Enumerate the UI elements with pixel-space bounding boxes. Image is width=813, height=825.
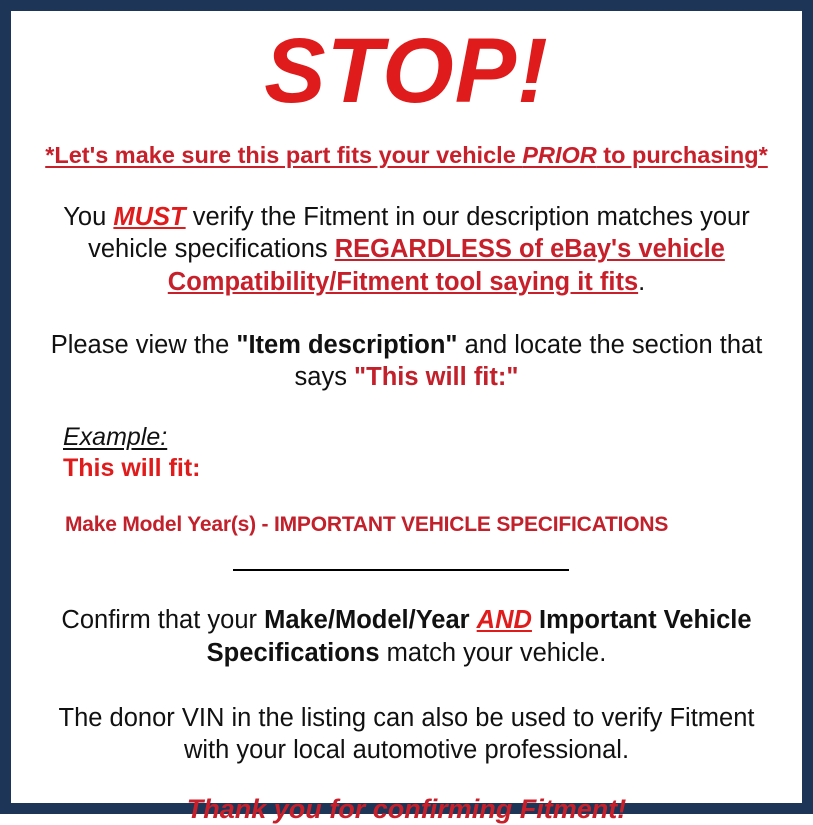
- example-spec-line: Make Model Year(s) - IMPORTANT VEHICLE S…: [65, 513, 780, 537]
- example-label-row: Example:: [63, 424, 780, 452]
- tagline-text-after: to purchasing*: [597, 142, 768, 168]
- make-model-year-bold: Make/Model/Year: [264, 606, 477, 634]
- must-seg-1: You: [63, 203, 113, 231]
- tagline-emphasis-prior: PRIOR: [522, 142, 596, 168]
- item-description-paragraph: Please view the "Item description" and l…: [33, 329, 780, 394]
- thank-you-line: Thank you for confirming Fitment!: [33, 795, 780, 825]
- tagline-banner: *Let's make sure this part fits your veh…: [33, 143, 780, 171]
- this-will-fit-quote: "This will fit:": [354, 363, 518, 391]
- confirm-seg-1: Confirm that your: [61, 606, 264, 634]
- item-description-label: "Item description": [236, 331, 457, 359]
- horizontal-rule-divider: [233, 569, 569, 571]
- confirm-seg-5: match your vehicle.: [380, 639, 607, 667]
- must-seg-5: .: [638, 268, 645, 296]
- example-fit-heading: This will fit:: [63, 454, 780, 483]
- example-label: Example:: [63, 424, 167, 452]
- and-emphasis: AND: [477, 606, 532, 634]
- divider-row: [33, 569, 780, 571]
- must-emphasis: MUST: [113, 203, 185, 231]
- page-title: STOP!: [33, 25, 780, 117]
- confirm-paragraph: Confirm that your Make/Model/Year AND Im…: [33, 604, 780, 669]
- example-block: Example: This will fit: Make Model Year(…: [33, 424, 780, 537]
- fitment-notice-card: STOP! *Let's make sure this part fits yo…: [0, 0, 813, 814]
- tagline-text-before: *Let's make sure this part fits your veh…: [45, 142, 522, 168]
- must-verify-paragraph: You MUST verify the Fitment in our descr…: [33, 201, 780, 299]
- notice-content: STOP! *Let's make sure this part fits yo…: [11, 11, 802, 803]
- itemdesc-seg-1: Please view the: [51, 331, 237, 359]
- donor-vin-paragraph: The donor VIN in the listing can also be…: [33, 702, 780, 767]
